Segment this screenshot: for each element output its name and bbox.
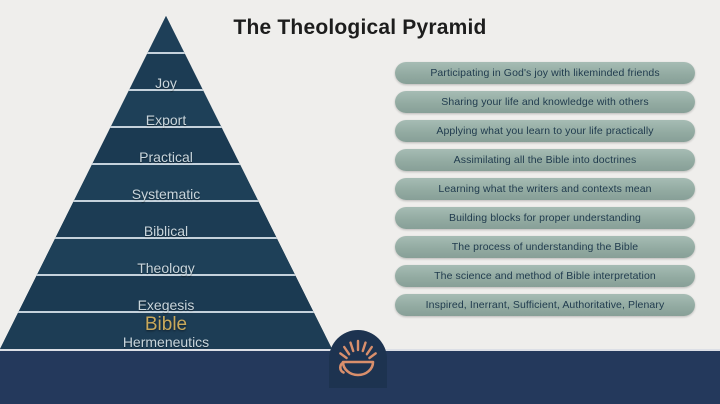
description-pill: Building blocks for proper understanding — [395, 207, 695, 229]
description-pill-text: Assimilating all the Bible into doctrine… — [454, 154, 637, 166]
slide-canvas: The Theological Pyramid — [0, 0, 720, 404]
description-pill: Participating in God's joy with likemind… — [395, 62, 695, 84]
description-pill-text: Applying what you learn to your life pra… — [436, 125, 653, 137]
coffee-cup-icon — [329, 330, 387, 388]
description-pill: Sharing your life and knowledge with oth… — [395, 91, 695, 113]
pyramid-diagram: Joy Export Practical Systematic Biblical… — [0, 16, 332, 349]
description-pill-text: Learning what the writers and contexts m… — [438, 183, 651, 195]
description-pill: Assimilating all the Bible into doctrine… — [395, 149, 695, 171]
description-pill-text: Sharing your life and knowledge with oth… — [441, 96, 648, 108]
description-pill-text: Participating in God's joy with likemind… — [430, 67, 659, 79]
description-pill-text: Inspired, Inerrant, Sufficient, Authorit… — [426, 299, 665, 311]
description-pill: Applying what you learn to your life pra… — [395, 120, 695, 142]
description-pill: Inspired, Inerrant, Sufficient, Authorit… — [395, 294, 695, 316]
description-pill: The science and method of Bible interpre… — [395, 265, 695, 287]
description-pill-list: Participating in God's joy with likemind… — [395, 62, 695, 323]
description-pill: The process of understanding the Bible — [395, 236, 695, 258]
description-pill-text: The process of understanding the Bible — [452, 241, 639, 253]
description-pill: Learning what the writers and contexts m… — [395, 178, 695, 200]
description-pill-text: The science and method of Bible interpre… — [434, 270, 656, 282]
description-pill-text: Building blocks for proper understanding — [449, 212, 641, 224]
